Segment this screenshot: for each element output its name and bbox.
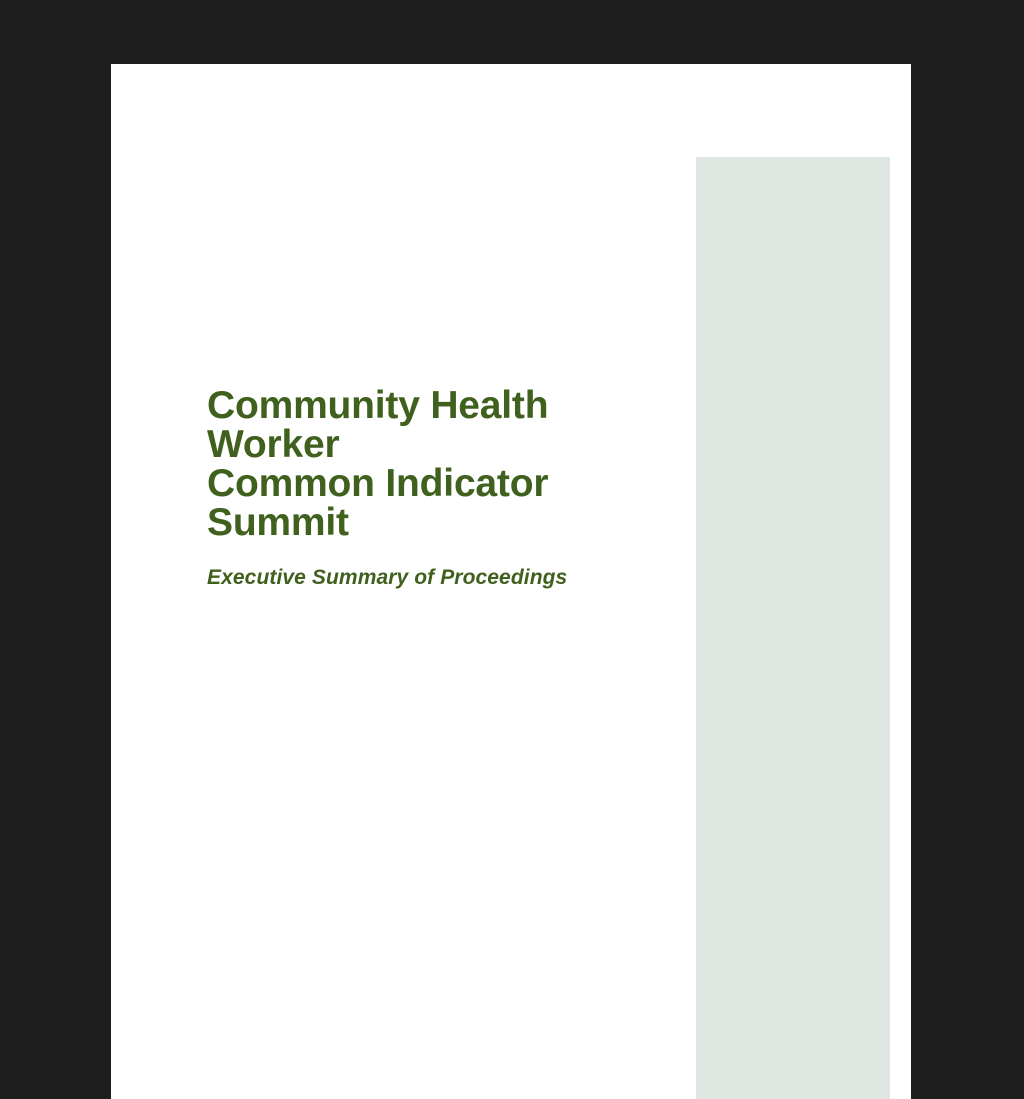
document-title: Community Health Worker Common Indicator… — [207, 386, 677, 542]
decorative-side-band — [696, 157, 890, 1099]
document-viewer[interactable]: Community Health Worker Common Indicator… — [0, 0, 1024, 768]
document-page[interactable]: Community Health Worker Common Indicator… — [111, 64, 911, 1099]
cover-page-blank-area — [207, 534, 677, 834]
